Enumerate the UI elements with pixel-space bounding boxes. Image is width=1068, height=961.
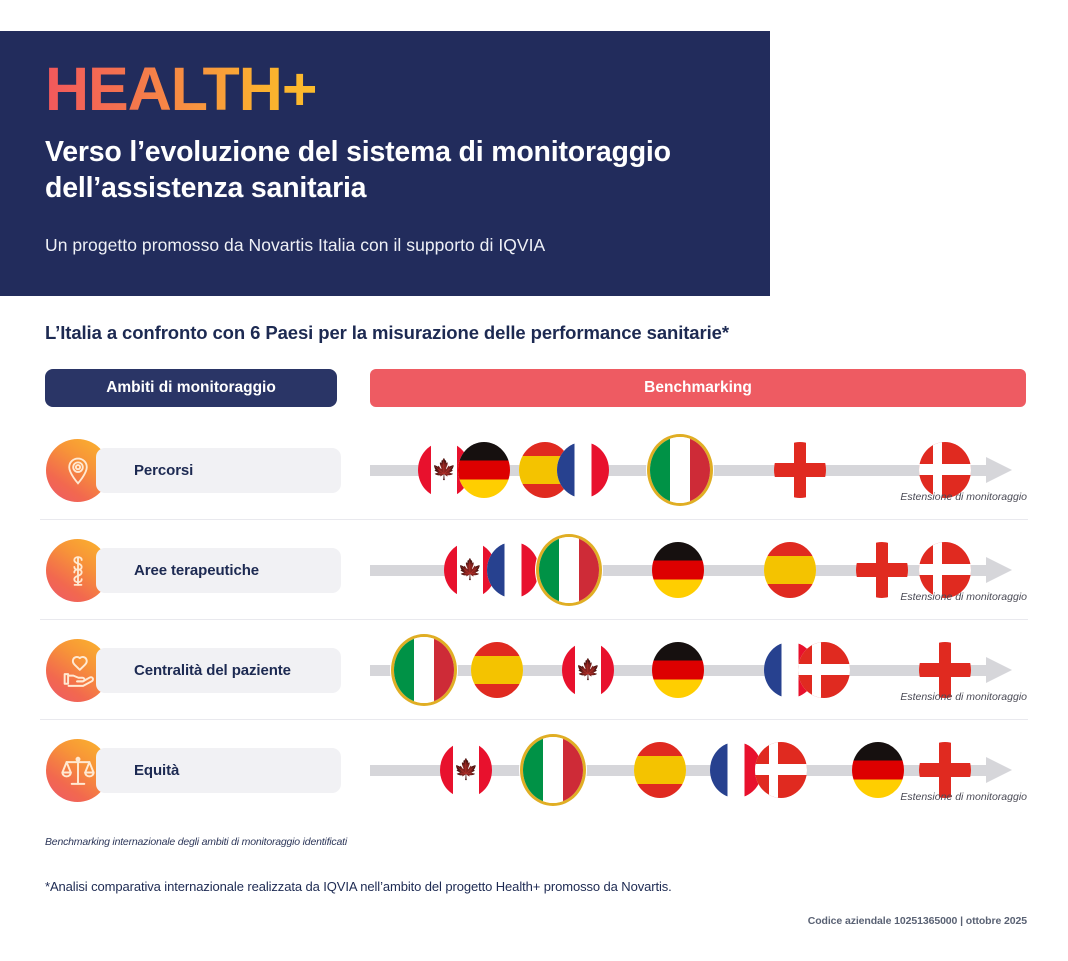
flag-fr[interactable] bbox=[557, 442, 609, 498]
ambito-label-pill[interactable]: Centralità del paziente bbox=[96, 648, 341, 693]
flag-graphic bbox=[755, 742, 807, 798]
flag-it-highlighted[interactable] bbox=[647, 434, 713, 506]
flag-graphic: 🍁 bbox=[562, 642, 614, 698]
flag-it-highlighted[interactable] bbox=[536, 534, 602, 606]
header-banner: HEALTH+ Verso l’evoluzione del sistema d… bbox=[0, 31, 770, 296]
flag-es[interactable] bbox=[471, 642, 523, 698]
flag-graphic bbox=[539, 537, 599, 603]
flag-graphic bbox=[634, 742, 686, 798]
flag-graphic bbox=[650, 437, 710, 503]
footnote-company-code: Codice aziendale 10251365000 | ottobre 2… bbox=[808, 915, 1027, 927]
flag-graphic bbox=[523, 737, 583, 803]
section-title: L’Italia a confronto con 6 Paesi per la … bbox=[45, 322, 729, 344]
banner-subtitle: Un progetto promosso da Novartis Italia … bbox=[45, 235, 770, 256]
maple-leaf-icon: 🍁 bbox=[576, 660, 601, 680]
ambito-label-text: Aree terapeutiche bbox=[134, 562, 259, 579]
axis-arrow-icon bbox=[986, 657, 1012, 683]
axis-arrow-icon bbox=[986, 457, 1012, 483]
flag-en[interactable] bbox=[774, 442, 826, 498]
flag-de[interactable] bbox=[652, 542, 704, 598]
ambito-label-pill[interactable]: Aree terapeutiche bbox=[96, 548, 341, 593]
column-header-ambiti: Ambiti di monitoraggio bbox=[45, 369, 337, 407]
flag-de[interactable] bbox=[852, 742, 904, 798]
flag-graphic bbox=[458, 442, 510, 498]
flag-graphic bbox=[652, 542, 704, 598]
flag-graphic bbox=[471, 642, 523, 698]
brand-title: HEALTH+ bbox=[45, 59, 316, 120]
flag-es[interactable] bbox=[634, 742, 686, 798]
flag-ca[interactable]: 🍁 bbox=[440, 742, 492, 798]
flag-dk[interactable] bbox=[919, 542, 971, 598]
ambito-label-text: Equità bbox=[134, 762, 179, 779]
column-header-benchmarking: Benchmarking bbox=[370, 369, 1026, 407]
axis-arrow-icon bbox=[986, 757, 1012, 783]
benchmark-row: Centralità del paziente🍁Estensione di mo… bbox=[0, 620, 1068, 720]
flag-graphic bbox=[394, 637, 454, 703]
flag-ca[interactable]: 🍁 bbox=[562, 642, 614, 698]
axis-extension-label: Estensione di monitoraggio bbox=[900, 691, 1027, 703]
maple-leaf-icon: 🍁 bbox=[458, 560, 483, 580]
flag-graphic bbox=[557, 442, 609, 498]
flag-graphic bbox=[919, 442, 971, 498]
flag-dk[interactable] bbox=[755, 742, 807, 798]
axis-arrow-icon bbox=[986, 557, 1012, 583]
benchmark-row: Equità🍁Estensione di monitoraggio bbox=[0, 720, 1068, 820]
flag-fr[interactable] bbox=[487, 542, 539, 598]
flag-en[interactable] bbox=[919, 742, 971, 798]
banner-headline: Verso l’evoluzione del sistema di monito… bbox=[45, 134, 685, 207]
axis-extension-label: Estensione di monitoraggio bbox=[900, 791, 1027, 803]
flag-graphic bbox=[919, 642, 971, 698]
flag-graphic bbox=[919, 542, 971, 598]
flag-graphic bbox=[774, 442, 826, 498]
axis-extension-label: Estensione di monitoraggio bbox=[900, 591, 1027, 603]
flag-en[interactable] bbox=[856, 542, 908, 598]
ambito-label-pill[interactable]: Equità bbox=[96, 748, 341, 793]
column-header-ambiti-label: Ambiti di monitoraggio bbox=[106, 379, 276, 397]
footnote-analysis: *Analisi comparativa internazionale real… bbox=[45, 879, 672, 894]
flag-graphic bbox=[798, 642, 850, 698]
ambito-label-text: Percorsi bbox=[134, 462, 193, 479]
flag-en[interactable] bbox=[919, 642, 971, 698]
flag-graphic bbox=[856, 542, 908, 598]
flag-graphic bbox=[764, 542, 816, 598]
flag-graphic bbox=[487, 542, 539, 598]
flag-dk[interactable] bbox=[798, 642, 850, 698]
flag-it-highlighted[interactable] bbox=[391, 634, 457, 706]
flag-dk[interactable] bbox=[919, 442, 971, 498]
column-header-benchmarking-label: Benchmarking bbox=[644, 379, 752, 397]
axis-extension-label: Estensione di monitoraggio bbox=[900, 491, 1027, 503]
flag-de[interactable] bbox=[652, 642, 704, 698]
maple-leaf-icon: 🍁 bbox=[432, 460, 457, 480]
ambito-label-text: Centralità del paziente bbox=[134, 662, 291, 679]
flag-it-highlighted[interactable] bbox=[520, 734, 586, 806]
benchmark-row: Percorsi🍁Estensione di monitoraggio bbox=[0, 420, 1068, 520]
footnote-benchmarking: Benchmarking internazionale degli ambiti… bbox=[45, 836, 347, 848]
maple-leaf-icon: 🍁 bbox=[454, 760, 479, 780]
ambito-label-pill[interactable]: Percorsi bbox=[96, 448, 341, 493]
flag-graphic bbox=[652, 642, 704, 698]
flag-graphic bbox=[919, 742, 971, 798]
flag-de[interactable] bbox=[458, 442, 510, 498]
flag-graphic: 🍁 bbox=[440, 742, 492, 798]
benchmark-row: Aree terapeutiche🍁Estensione di monitora… bbox=[0, 520, 1068, 620]
flag-es[interactable] bbox=[764, 542, 816, 598]
flag-graphic bbox=[852, 742, 904, 798]
infographic-page: HEALTH+ Verso l’evoluzione del sistema d… bbox=[0, 0, 1068, 961]
